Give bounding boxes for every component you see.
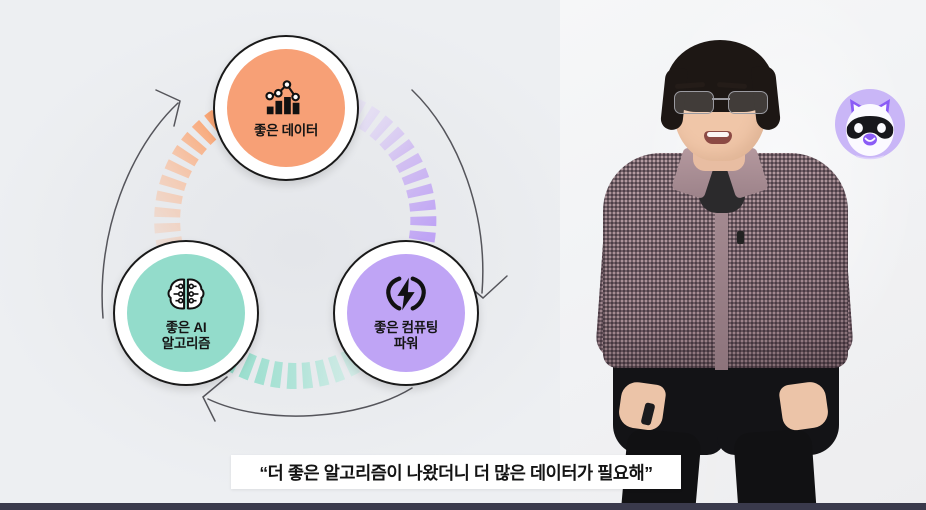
shin-right: [733, 428, 819, 510]
video-frame: 좋은 데이터: [0, 0, 926, 510]
subtitle-caption: “더 좋은 알고리즘이 나왔더니 더 많은 데이터가 필요해”: [231, 455, 681, 489]
cycle-node-algorithm[interactable]: 좋은 AI 알고리즘: [113, 240, 259, 386]
presenter: [595, 35, 855, 505]
cycle-node-data-inner: 좋은 데이터: [227, 49, 345, 167]
lightning-bolt-icon: [383, 274, 429, 314]
raccoon-mascot-icon: [832, 86, 908, 162]
glasses-lens-right: [728, 91, 768, 114]
hand-right: [778, 380, 830, 432]
raccoon-mascot-logo: [832, 86, 908, 162]
lapel-microphone: [737, 231, 744, 244]
glasses-lens-left: [674, 91, 714, 114]
cycle-node-algorithm-label: 좋은 AI 알고리즘: [162, 320, 210, 352]
ai-brain-icon: [163, 274, 209, 314]
cycle-node-computing-label: 좋은 컴퓨팅 파워: [374, 320, 438, 352]
bottom-bar: [0, 503, 926, 510]
cycle-node-computing-inner: 좋은 컴퓨팅 파워: [347, 254, 465, 372]
cycle-node-computing[interactable]: 좋은 컴퓨팅 파워: [333, 240, 479, 386]
mouth: [704, 131, 732, 144]
glasses-icon: [671, 91, 771, 113]
cycle-node-data-label: 좋은 데이터: [254, 123, 318, 139]
cycle-node-data[interactable]: 좋은 데이터: [213, 35, 359, 181]
bar-chart-line-icon: [263, 77, 309, 117]
ai-virtuous-cycle-diagram: 좋은 데이터: [60, 18, 530, 438]
cycle-node-algorithm-inner: 좋은 AI 알고리즘: [127, 254, 245, 372]
